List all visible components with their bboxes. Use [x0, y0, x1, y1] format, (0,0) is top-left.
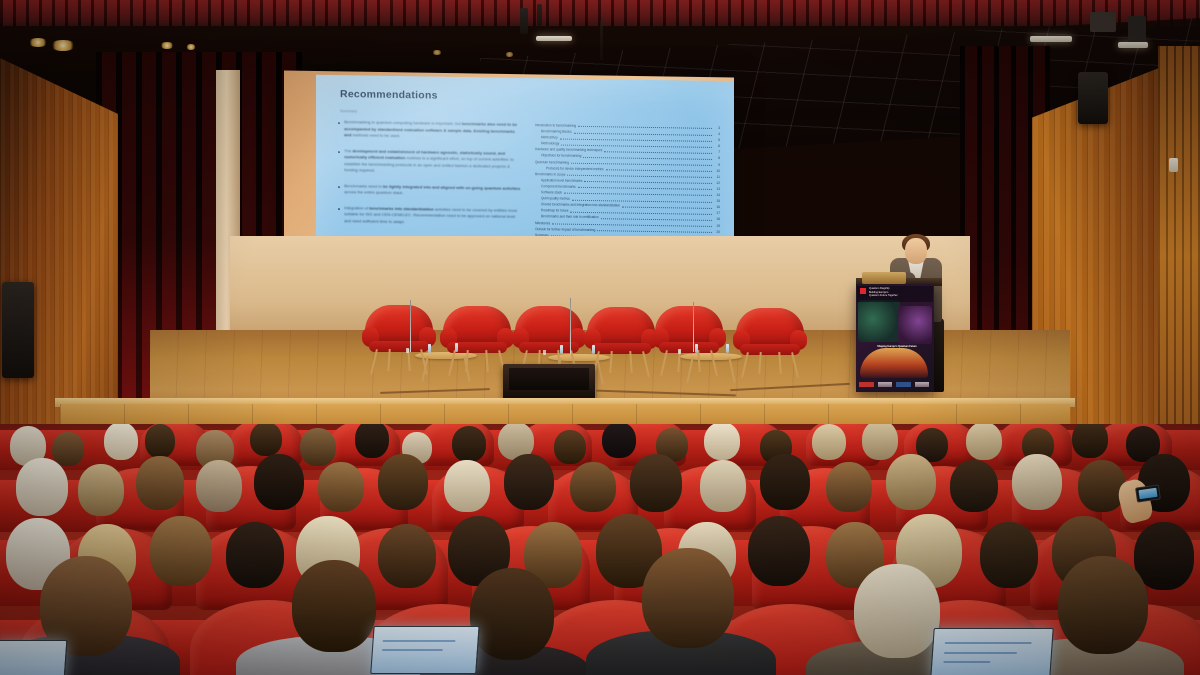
water-bottle — [695, 344, 698, 353]
panel-chair — [652, 306, 726, 362]
drinking-glass — [678, 349, 681, 354]
microphone-stand — [410, 300, 411, 352]
audience-head — [378, 454, 428, 510]
slide-bullet: The development and establishment of har… — [338, 148, 523, 177]
audience-head — [950, 460, 998, 512]
audience-head — [150, 516, 212, 586]
audience-head — [602, 424, 636, 458]
podium-laptop — [862, 272, 906, 284]
audience-head — [642, 548, 734, 648]
podium-logo-mark-icon — [860, 288, 866, 294]
slide-title: Recommendations — [340, 88, 438, 102]
wood-wall-far-right — [1158, 46, 1200, 466]
bullet-marker-icon — [338, 186, 340, 188]
drinking-glass — [543, 350, 546, 355]
audience-head — [1072, 424, 1108, 458]
laptop-screen-line — [943, 661, 990, 663]
sponsor-logo-icon — [878, 382, 893, 387]
panel-chair — [362, 305, 436, 361]
audience-head — [748, 516, 810, 586]
ceiling-light-strip — [1030, 36, 1072, 42]
audience-head — [452, 426, 486, 462]
ceiling-spotlight — [50, 40, 76, 51]
audience-laptop[interactable] — [370, 626, 477, 672]
audience-head — [1058, 556, 1148, 654]
water-bottle — [592, 345, 595, 354]
audience-head — [760, 454, 810, 510]
podium-banner-title: Quantum Flagship Building Europe's Quant… — [869, 287, 898, 298]
audience-head — [196, 460, 242, 512]
audience-head — [470, 568, 554, 660]
sponsor-logo-icon — [896, 382, 911, 387]
ceiling-light-strip — [536, 36, 572, 41]
audience-head — [854, 564, 940, 658]
drinking-glass — [406, 348, 409, 353]
ceiling-truss — [520, 8, 528, 34]
audience-head — [104, 424, 138, 460]
audience-head — [980, 522, 1038, 588]
audience — [0, 424, 1200, 675]
audience-head — [318, 462, 364, 512]
water-bottle — [726, 344, 729, 353]
audience-head — [355, 424, 389, 458]
audience-head — [862, 424, 898, 460]
slide-subtitle: Summary — [340, 108, 357, 113]
audience-head — [292, 560, 376, 652]
sponsor-logo-icon — [915, 382, 930, 387]
audience-head — [250, 424, 282, 456]
slide-bullet: Integration of benchmarks into standardi… — [338, 205, 523, 228]
podium-banner-art — [858, 300, 900, 342]
ceiling-spotlight — [432, 50, 442, 55]
water-bottle — [560, 345, 563, 354]
audience-head — [78, 464, 124, 516]
audience-tablet[interactable] — [0, 640, 65, 675]
confidence-monitor — [503, 364, 595, 400]
audience-head — [826, 462, 872, 512]
slide-bullet-text: Benchmarks need to be tightly integrated… — [344, 183, 523, 199]
sponsor-logo-icon — [859, 382, 874, 387]
bullet-marker-icon — [338, 208, 340, 210]
laptop-screen-line — [382, 649, 442, 651]
toc-row: Benchmarks and their role in certificati… — [535, 216, 720, 222]
audience-head — [136, 456, 184, 510]
audience-head — [52, 432, 84, 466]
panel-chair — [584, 307, 658, 363]
audience-head — [704, 424, 740, 460]
audience-head — [145, 424, 175, 458]
toc-row: Outlook for further impact of benchmarki… — [535, 228, 720, 234]
ceiling-light-strip — [1118, 42, 1148, 48]
audience-head — [630, 454, 682, 512]
slide-bullet-text: The development and establishment of har… — [344, 148, 523, 177]
audience-head — [554, 430, 586, 464]
ceiling-spotlight — [28, 38, 48, 47]
water-bottle — [455, 343, 458, 352]
ceiling-truss — [537, 4, 542, 26]
podium-sponsor-logos — [859, 381, 929, 388]
slide-bullet-text: Integration of benchmarks into standardi… — [344, 205, 523, 227]
podium-banner-caption: Shaping Europe's Quantum Future — [872, 345, 922, 348]
slide-bullet: Benchmarks need to be tightly integrated… — [338, 183, 523, 199]
audience-head — [254, 454, 304, 510]
microphone-stand — [570, 298, 571, 354]
loudspeaker-left — [2, 282, 34, 378]
audience-head — [1012, 454, 1062, 510]
panel-chair — [512, 306, 586, 362]
audience-head — [300, 428, 336, 466]
slide-bullet-text: Benchmarking in quantum computing hardwa… — [344, 119, 523, 141]
podium-banner-art — [898, 306, 932, 344]
audience-head — [1134, 522, 1194, 590]
audience-laptop[interactable] — [930, 628, 1051, 675]
laptop-screen-line — [944, 642, 1031, 644]
laptop-screen-line — [944, 652, 1017, 654]
bullet-marker-icon — [338, 122, 340, 124]
audience-head — [570, 462, 616, 512]
toc-row: Component benchmarks13 — [535, 185, 720, 191]
loudspeaker-right — [1078, 72, 1108, 124]
ceiling-spotlight — [160, 42, 174, 49]
audience-head — [812, 424, 846, 460]
toc-row: Benchmarking Basics4 — [535, 130, 720, 136]
auditorium-photo: Recommendations Summary Benchmarking in … — [0, 0, 1200, 675]
microphone-stand — [693, 302, 694, 352]
ceiling-spotlight — [186, 44, 196, 50]
ceiling-spotlight — [505, 52, 514, 57]
audience-head — [16, 458, 68, 516]
laptop-screen-line — [383, 640, 456, 642]
audience-head — [1078, 460, 1126, 512]
panel-chair — [440, 306, 514, 362]
ceiling-rig-box — [1090, 12, 1116, 32]
wall-switch-right[interactable] — [1169, 158, 1178, 172]
bullet-marker-icon — [338, 151, 340, 153]
audience-head — [700, 460, 746, 512]
audience-head — [966, 424, 1002, 460]
panel-chair — [733, 308, 807, 364]
tablet-screen — [0, 640, 67, 675]
audience-head — [504, 454, 554, 510]
toc-row: Metrics/Key5 — [535, 136, 720, 142]
speaker-head — [905, 238, 927, 264]
ceiling-rigging — [600, 20, 603, 60]
audience-head — [378, 524, 436, 588]
audience-head — [444, 460, 490, 512]
water-bottle — [428, 344, 431, 353]
phone-screen — [1138, 487, 1157, 498]
slide-table-of-contents: Introduction to benchmarking3 Benchmarki… — [535, 124, 720, 246]
ceiling-rig-box — [1128, 16, 1146, 42]
audience-head — [886, 454, 936, 510]
slide-bullet: Benchmarking in quantum computing hardwa… — [338, 119, 523, 142]
audience-head — [226, 522, 284, 588]
